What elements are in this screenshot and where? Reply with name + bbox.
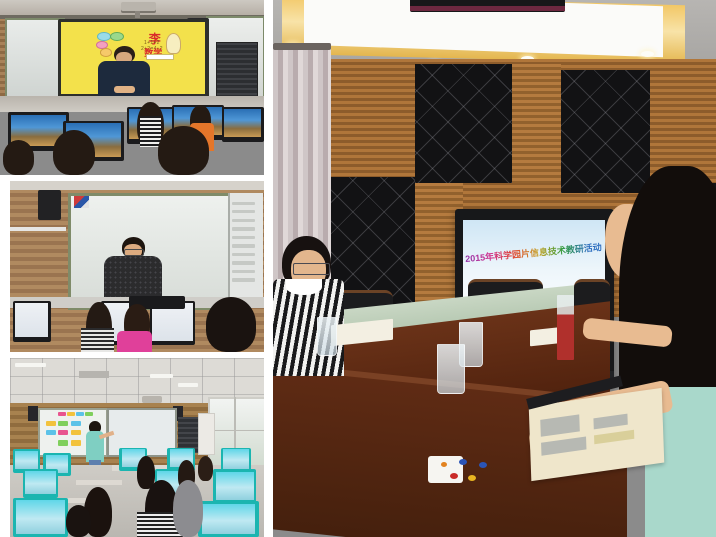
board-button [232, 236, 255, 239]
sticky-note [58, 430, 68, 435]
wall-speaker [28, 406, 38, 420]
monitor-screen [224, 109, 261, 137]
slide-balloon-blue [97, 32, 111, 41]
document-figure [594, 430, 634, 445]
teacher-hands [114, 86, 135, 93]
scene-classroom-whiteboard [10, 181, 264, 352]
ceiling-panel-accent [410, 6, 565, 10]
desk [76, 480, 122, 485]
student-foreground [173, 480, 203, 537]
document-figure [593, 414, 628, 429]
drink-bottle [557, 295, 575, 359]
monitor-screen [15, 451, 38, 469]
whiteboard-left [5, 18, 64, 99]
water-cup [437, 344, 466, 394]
teacher-body [104, 256, 162, 300]
sticky-note [58, 421, 68, 426]
board-button [232, 202, 255, 205]
board-button [232, 244, 255, 247]
sticky-note [71, 421, 81, 426]
monitor-screen [223, 449, 248, 469]
server-rack [216, 42, 258, 98]
sticky-note [46, 430, 56, 435]
board-button [232, 261, 255, 264]
sticky-note [46, 421, 56, 426]
sticky-note [58, 440, 68, 445]
ceiling-light [178, 383, 198, 387]
bottle-cap [479, 462, 487, 468]
participant-left-glasses [293, 263, 330, 275]
monitor-screen [216, 472, 254, 501]
water-cup [317, 317, 337, 357]
student-foreground [53, 130, 95, 176]
ceiling-light [150, 374, 173, 378]
storage-cabinet [198, 413, 215, 454]
student-shirt [117, 331, 153, 352]
monitor-screen [15, 303, 48, 337]
wall-shelf [10, 227, 66, 231]
student-shirt [140, 116, 161, 148]
curtain-rod [273, 43, 331, 51]
bottle-cap [450, 473, 458, 479]
sticky-note [67, 412, 75, 416]
document-figure [541, 436, 587, 456]
ceiling [10, 181, 264, 190]
monitor-screen [16, 500, 64, 534]
student-foreground [206, 297, 257, 352]
photo-computer-lab[interactable] [10, 358, 264, 537]
student-shirt [81, 328, 114, 352]
projector [142, 396, 162, 403]
scene-classroom-projector: 李 1+1=2 2+2=4÷2 数学 [0, 0, 264, 175]
scene-meeting-room: 2015年科学园片信息技术教研活动 科学园片电教中心 [273, 0, 716, 537]
board-button [232, 227, 255, 230]
slide-subject-text: 数学 [140, 46, 166, 53]
wall-panel-glass [561, 70, 650, 194]
whiteboard-corner-flag [74, 196, 89, 208]
scene-computer-lab [10, 358, 264, 537]
board-button [232, 278, 255, 281]
window-mullion [208, 430, 264, 432]
board-button [232, 253, 255, 256]
projector [121, 2, 155, 11]
photo-meeting-room[interactable]: 2015年科学园片信息技术教研活动 科学园片电教中心 [273, 0, 716, 537]
document-figure [540, 415, 580, 437]
monitor-screen [202, 504, 255, 534]
monitor-screen [25, 471, 55, 494]
sticky-note [71, 430, 81, 435]
wall-speaker [38, 190, 61, 221]
student-foreground [3, 140, 35, 175]
board-button [232, 270, 255, 273]
ceiling-vent [79, 371, 109, 378]
wall-panel-wood [512, 64, 561, 182]
sticky-note [71, 440, 81, 445]
wall-panel-glass [415, 64, 512, 182]
photo-classroom-projector[interactable]: 李 1+1=2 2+2=4÷2 数学 [0, 0, 264, 175]
student-foreground [66, 505, 91, 537]
teacher-glasses [124, 249, 144, 255]
student-foreground [158, 126, 208, 175]
slide-balloon-orange [100, 48, 112, 56]
ceiling-light [15, 363, 45, 367]
photo-classroom-whiteboard[interactable] [10, 181, 264, 352]
photo-collage: 李 1+1=2 2+2=4÷2 数学 [0, 0, 716, 537]
student [198, 456, 213, 481]
downlight [641, 51, 654, 57]
projector-mount [135, 11, 140, 18]
sticky-note [58, 412, 66, 416]
slide-footer-label [146, 54, 174, 60]
board-button [232, 210, 255, 213]
sticky-note [85, 412, 93, 416]
sticky-note [76, 412, 84, 416]
slide-balloon-green [110, 32, 124, 41]
board-button [232, 219, 255, 222]
